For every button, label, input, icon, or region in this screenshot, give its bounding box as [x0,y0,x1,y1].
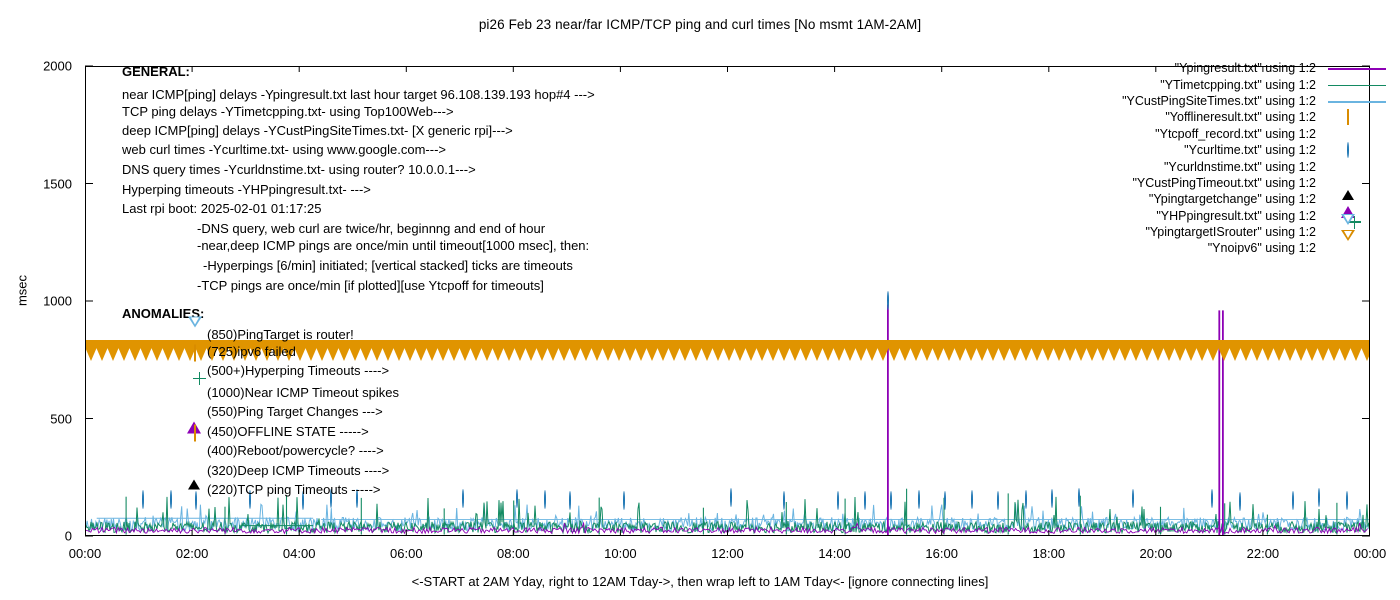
legend-row-0[interactable]: "Ypingresult.txt" using 1:2 [990,60,1390,76]
anomaly-label-6: (400)Reboot/powercycle? ----> [207,443,384,458]
general-line-6: Last rpi boot: 2025-02-01 01:17:25 [122,201,321,216]
circle-filled-red-icon [1324,159,1390,175]
y-tick-0: 0 [12,529,72,544]
legend: "Ypingresult.txt" using 1:2"YTimetcpping… [990,60,1390,257]
x-tick-9: 18:00 [1033,546,1066,561]
curltime-marker-2 [142,491,144,509]
anomaly-label-1: (725)ipv6 failed [207,344,296,359]
general-indent-0: -DNS query, web curl are twice/hr, begin… [197,221,545,236]
triangle-up-open-icon [1324,175,1390,191]
legend-label-1: "YTimetcpping.txt" using 1:2 [1160,78,1316,92]
curltime-marker-26 [783,492,785,510]
anomaly-label-7: (320)Deep ICMP Timeouts ----> [207,463,389,478]
anomaly-label-4: (550)Ping Target Changes ---> [207,404,383,419]
legend-row-8[interactable]: "Ypingtargetchange" using 1:2 [990,191,1390,207]
general-line-2: deep ICMP[ping] delays -YCustPingSiteTim… [122,123,513,138]
curltime-marker-39 [1132,490,1134,508]
square-open-orange-icon [194,346,196,361]
legend-label-9: "YHPpingresult.txt" using 1:2 [1156,209,1316,223]
legend-row-6[interactable]: "Ycurldnstime.txt" using 1:2 [990,158,1390,174]
legend-row-10[interactable]: "YpingtargetISrouter" using 1:2 [990,224,1390,240]
plus-green-icon [1324,208,1390,224]
curltime-marker-17 [544,491,546,509]
legend-label-10: "YpingtargetISrouter" using 1:2 [1145,225,1316,239]
anomaly-row-3: (1000)Near ICMP Timeout spikes [207,385,399,400]
legend-row-1[interactable]: "YTimetcpping.txt" using 1:2 [990,76,1390,92]
curltime-marker-43 [1239,493,1241,511]
curltime-marker-33 [971,491,973,509]
curltime-spike-marker [887,292,889,310]
y-axis-label: msec [15,261,30,321]
legend-label-2: "YCustPingSiteTimes.txt" using 1:2 [1122,94,1316,108]
anomaly-label-8: (220)TCP ping Timeouts -----> [207,482,381,497]
circle-open-blue-icon [1324,142,1390,158]
triangle-up-filled-purple-icon [187,407,201,422]
legend-row-2[interactable]: "YCustPingSiteTimes.txt" using 1:2 [990,93,1390,109]
triangle-up-filled-purple-icon [1324,191,1390,207]
general-indent-1: -near,deep ICMP pings are once/min until… [197,238,589,253]
general-line-4: DNS query times -Ycurldnstime.txt- using… [122,162,476,177]
line-green-icon [1324,77,1390,93]
anomaly-label-0: (850)PingTarget is router! [207,327,354,342]
curltime-marker-42 [1211,490,1213,508]
curltime-marker-18 [569,492,571,510]
square-filled-yellow-icon [1324,126,1390,142]
triangle-down-open-blue-icon [1324,224,1390,240]
curltime-marker-34 [997,492,999,510]
x-tick-6: 12:00 [711,546,744,561]
anomaly-row-7: (320)Deep ICMP Timeouts ----> [207,463,389,478]
legend-row-11[interactable]: "Ynoipv6" using 1:2 [990,240,1390,256]
triangle-down-open-orange-icon [1324,240,1390,256]
triangle-up-open-icon [188,465,200,480]
legend-label-5: "Ycurltime.txt" using 1:2 [1184,143,1316,157]
general-line-1: TCP ping delays -YTimetcpping.txt- using… [122,104,454,119]
legend-row-9[interactable]: "YHPpingresult.txt" using 1:2 [990,208,1390,224]
square-open-orange-icon [1324,109,1390,125]
general-line-3: web curl times -Ycurltime.txt- using www… [122,142,446,157]
anomaly-row-5: (450)OFFLINE STATE -----> [207,424,369,439]
x-tick-3: 06:00 [390,546,423,561]
general-line-0: near ICMP[ping] delays -Ypingresult.txt … [122,87,595,102]
anomaly-label-3: (1000)Near ICMP Timeout spikes [207,385,399,400]
anomaly-row-0: (850)PingTarget is router! [207,327,354,342]
x-tick-2: 04:00 [283,546,316,561]
anomaly-row-4: (550)Ping Target Changes ---> [207,404,383,419]
line-purple-icon [1324,60,1390,76]
curltime-marker-47 [1346,492,1348,510]
legend-label-11: "Ynoipv6" using 1:2 [1208,241,1316,255]
curltime-marker-20 [623,492,625,510]
anomaly-row-2: (500+)Hyperping Timeouts ----> [207,363,389,378]
legend-label-3: "Yofflineresult.txt" using 1:2 [1165,110,1316,124]
x-tick-12: 00:00 [1354,546,1387,561]
y-tick-1000: 1000 [12,294,72,309]
x-tick-7: 14:00 [818,546,851,561]
legend-label-0: "Ypingresult.txt" using 1:2 [1175,61,1316,75]
legend-label-8: "Ypingtargetchange" using 1:2 [1149,192,1316,206]
legend-row-7[interactable]: "YCustPingTimeout.txt" using 1:2 [990,175,1390,191]
curltime-marker-29 [864,492,866,510]
curltime-marker-14 [462,490,464,508]
legend-row-5[interactable]: "Ycurltime.txt" using 1:2 [990,142,1390,158]
curltime-marker-4 [195,492,197,510]
anomaly-row-1: (725)ipv6 failed [207,344,296,359]
page-title: pi26 Feb 23 near/far ICMP/TCP ping and c… [0,17,1400,32]
y-tick-2000: 2000 [12,59,72,74]
legend-label-4: "Ytcpoff_record.txt" using 1:2 [1155,127,1316,141]
general-heading: GENERAL: [122,64,190,79]
curltime-marker-32 [944,492,946,510]
curltime-marker-3 [170,491,172,509]
square-open-orange-icon [194,426,196,441]
curltime-marker-45 [1292,492,1294,510]
legend-label-7: "YCustPingTimeout.txt" using 1:2 [1133,176,1317,190]
anomaly-row-6: (400)Reboot/powercycle? ----> [207,443,384,458]
curltime-marker-46 [1318,489,1320,507]
curltime-marker-37 [1078,489,1080,507]
curltime-marker-36 [1051,490,1053,508]
anomaly-label-5: (450)OFFLINE STATE -----> [207,424,369,439]
anomaly-row-8: (220)TCP ping Timeouts -----> [207,482,381,497]
legend-row-3[interactable]: "Yofflineresult.txt" using 1:2 [990,109,1390,125]
x-tick-11: 22:00 [1247,546,1280,561]
x-axis-caption: <-START at 2AM Yday, right to 12AM Tday-… [0,574,1400,589]
x-tick-5: 10:00 [604,546,637,561]
x-tick-8: 16:00 [925,546,958,561]
triangle-down-open-blue-icon [188,328,202,343]
legend-label-6: "Ycurldnstime.txt" using 1:2 [1164,160,1316,174]
curltime-marker-24 [730,489,732,507]
x-tick-1: 02:00 [176,546,209,561]
curltime-marker-30 [890,492,892,510]
legend-row-4[interactable]: "Ytcpoff_record.txt" using 1:2 [990,126,1390,142]
x-tick-0: 00:00 [69,546,102,561]
curltime-marker-31 [918,491,920,509]
x-tick-10: 20:00 [1140,546,1173,561]
y-tick-1500: 1500 [12,176,72,191]
curltime-marker-16 [516,490,518,508]
y-tick-500: 500 [12,411,72,426]
x-tick-4: 08:00 [497,546,530,561]
anomaly-label-2: (500+)Hyperping Timeouts ----> [207,363,389,378]
general-line-5: Hyperping timeouts -YHPpingresult.txt- -… [122,182,371,197]
general-indent-3: -TCP pings are once/min [if plotted][use… [197,278,544,293]
curltime-marker-28 [837,492,839,510]
curltime-marker-35 [1025,491,1027,509]
general-indent-2: -Hyperpings [6/min] initiated; [vertical… [203,258,573,273]
line-lightblue-icon [1324,93,1390,109]
